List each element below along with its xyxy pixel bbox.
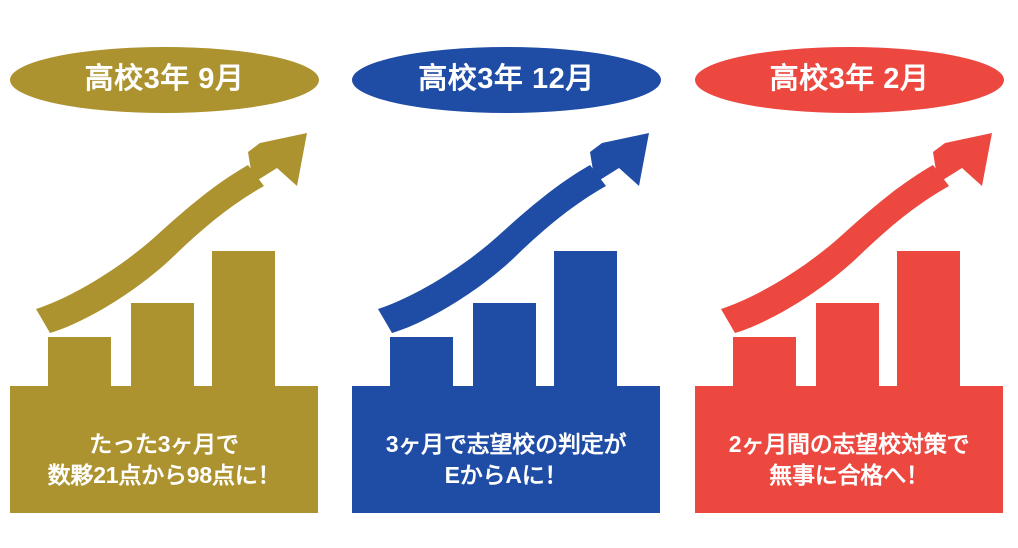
header-pill-label: 高校3年 2月 bbox=[770, 65, 930, 94]
chart-bar-1 bbox=[48, 337, 111, 389]
header-pill-label: 高校3年 9月 bbox=[85, 65, 245, 94]
header-pill-label: 高校3年 12月 bbox=[418, 65, 594, 94]
caption-line-2: 無事に合格へ！ bbox=[769, 460, 929, 490]
chart-bar-3 bbox=[212, 251, 275, 389]
infographic-canvas: 高校3年 9月 たった3ヶ月で 数夥21点から98点に！ 高校3年 12月 bbox=[0, 0, 1018, 548]
chart-bar-2 bbox=[473, 303, 536, 389]
chart-arrow-head bbox=[933, 133, 992, 186]
caption-line-1: 3ヶ月で志望校の判定が bbox=[386, 429, 627, 459]
chart-bar-1 bbox=[390, 337, 453, 389]
caption-block-gold: たった3ヶ月で 数夥21点から98点に！ bbox=[10, 406, 318, 513]
chart-bar-2 bbox=[131, 303, 194, 389]
header-pill-gold: 高校3年 9月 bbox=[10, 47, 319, 113]
caption-line-1: 2ヶ月間の志望校対策で bbox=[729, 429, 970, 459]
growth-chart-blue bbox=[352, 128, 660, 413]
chart-bar-3 bbox=[554, 251, 617, 389]
bar-chart-growth-arrow-icon bbox=[695, 128, 1003, 413]
panel-gold: 高校3年 9月 たった3ヶ月で 数夥21点から98点に！ bbox=[10, 0, 318, 548]
panel-red: 高校3年 2月 2ヶ月間の志望校対策で 無事に合格へ！ bbox=[695, 0, 1003, 548]
bar-chart-growth-arrow-icon bbox=[10, 128, 318, 413]
chart-bar-1 bbox=[733, 337, 796, 389]
growth-chart-gold bbox=[10, 128, 318, 413]
caption-line-2: EからAに！ bbox=[445, 460, 568, 490]
caption-block-blue: 3ヶ月で志望校の判定が EからAに！ bbox=[352, 406, 660, 513]
panel-blue: 高校3年 12月 3ヶ月で志望校の判定が EからAに！ bbox=[352, 0, 660, 548]
growth-chart-red bbox=[695, 128, 1003, 413]
chart-arrow-head bbox=[590, 133, 649, 186]
caption-line-2: 数夥21点から98点に！ bbox=[48, 460, 281, 490]
chart-bar-3 bbox=[897, 251, 960, 389]
caption-line-1: たった3ヶ月で bbox=[89, 429, 238, 459]
header-pill-blue: 高校3年 12月 bbox=[352, 47, 661, 113]
caption-block-red: 2ヶ月間の志望校対策で 無事に合格へ！ bbox=[695, 406, 1003, 513]
header-pill-red: 高校3年 2月 bbox=[695, 47, 1004, 113]
chart-arrow-head bbox=[248, 133, 307, 186]
bar-chart-growth-arrow-icon bbox=[352, 128, 660, 413]
chart-bar-2 bbox=[816, 303, 879, 389]
